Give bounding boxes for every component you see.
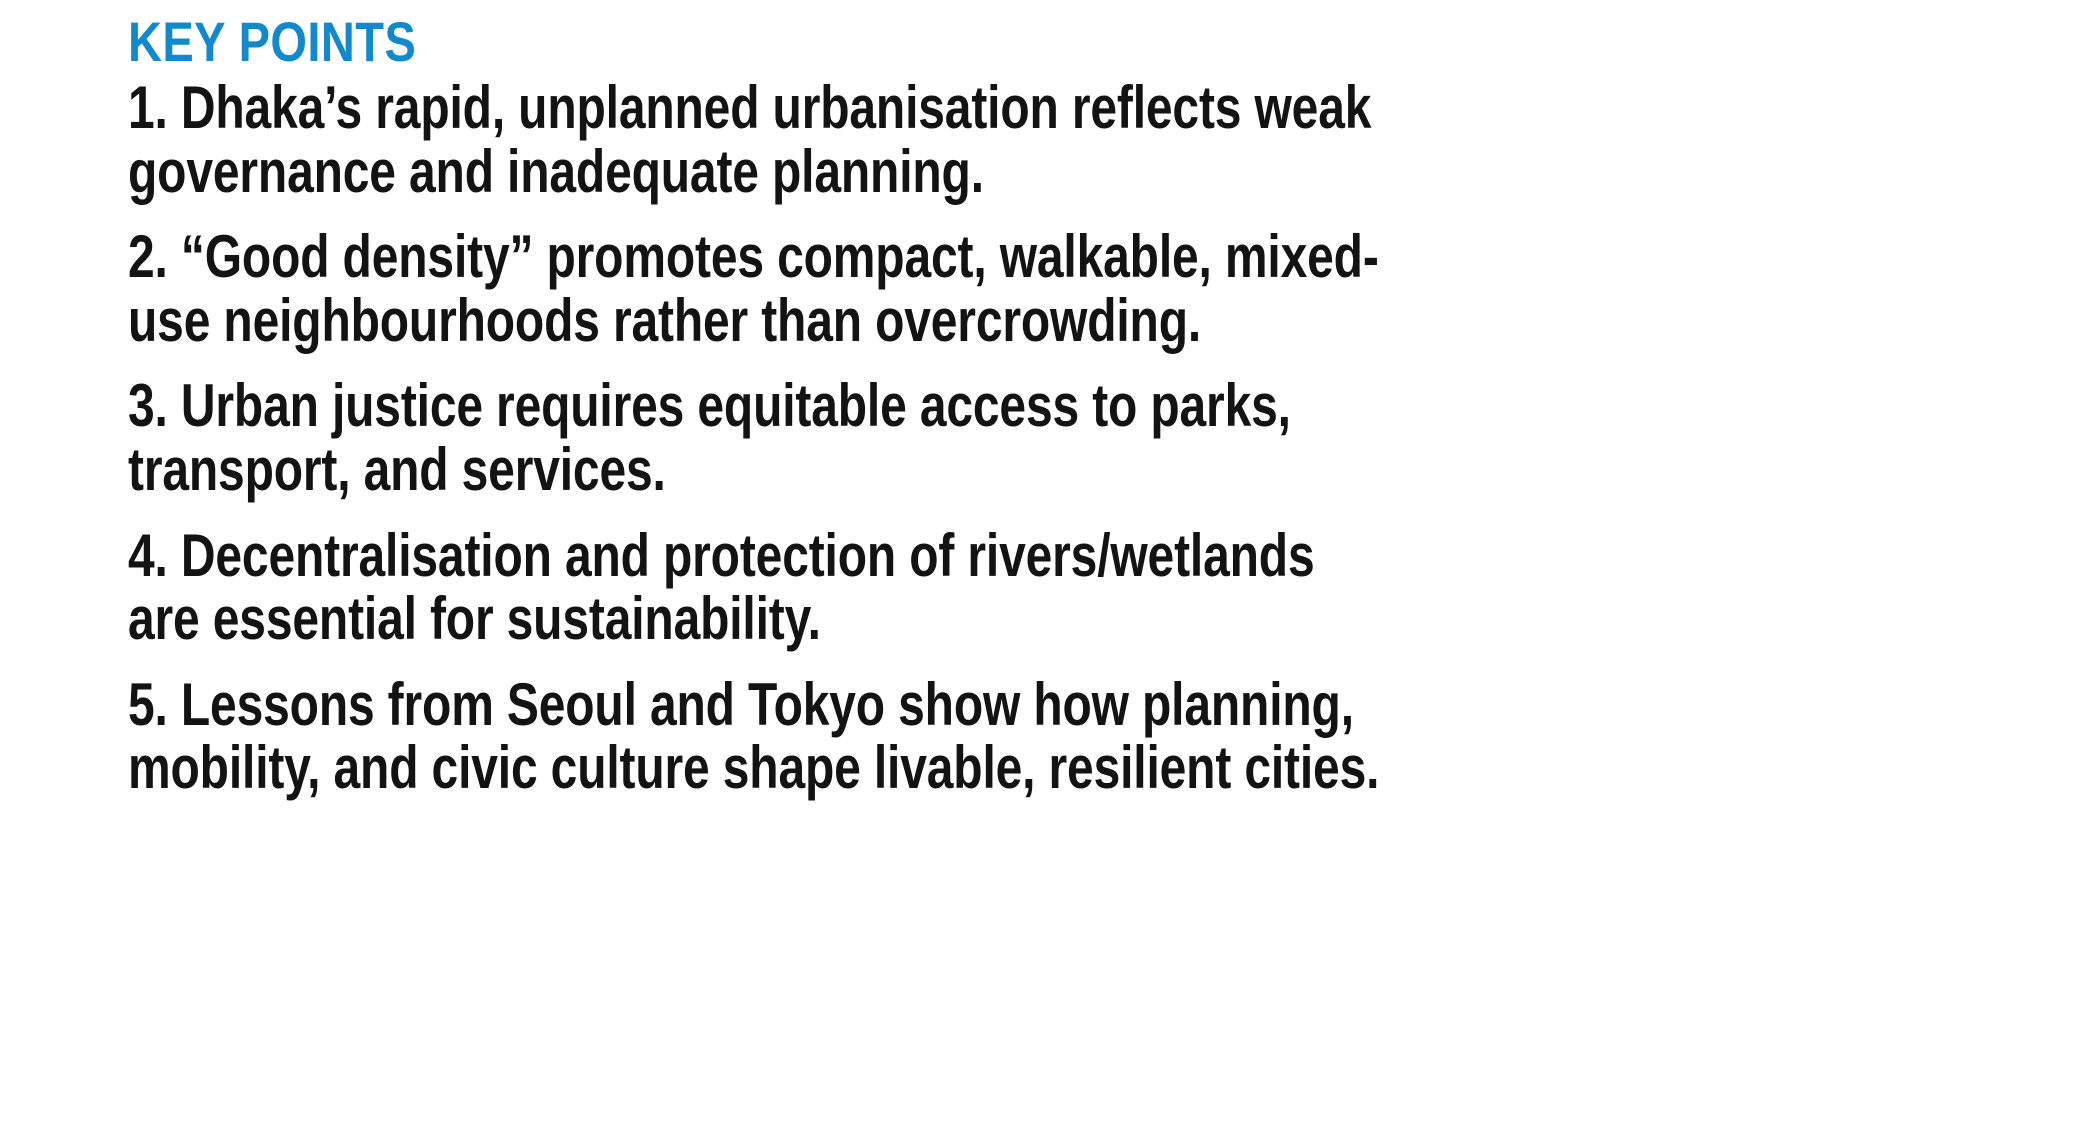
key-point-line-2: are essential for sustainability.	[128, 587, 1706, 651]
list-spacer	[0, 651, 2100, 673]
list-item: 2. “Good density” promotes compact, walk…	[128, 225, 1706, 352]
key-point-line-1: 1. Dhaka’s rapid, unplanned urbanisation…	[128, 76, 1706, 140]
page-title: KEY POINTS	[128, 14, 1784, 70]
list-spacer	[0, 502, 2100, 524]
list-spacer	[0, 352, 2100, 374]
key-point-line-1: 2. “Good density” promotes compact, walk…	[128, 225, 1706, 289]
list-item: 1. Dhaka’s rapid, unplanned urbanisation…	[128, 76, 1706, 203]
key-point-line-2: transport, and services.	[128, 438, 1706, 502]
list-item: 5. Lessons from Seoul and Tokyo show how…	[128, 673, 1706, 800]
key-points-panel: KEY POINTS 1. Dhaka’s rapid, unplanned u…	[0, 0, 2100, 1146]
key-point-line-1: 4. Decentralisation and protection of ri…	[128, 524, 1706, 588]
key-point-line-2: use neighbourhoods rather than overcrowd…	[128, 289, 1706, 353]
key-point-line-1: 3. Urban justice requires equitable acce…	[128, 374, 1706, 438]
list-spacer	[0, 203, 2100, 225]
key-point-line-2: mobility, and civic culture shape livabl…	[128, 736, 1706, 800]
key-point-line-1: 5. Lessons from Seoul and Tokyo show how…	[128, 673, 1706, 737]
list-item: 4. Decentralisation and protection of ri…	[128, 524, 1706, 651]
key-point-line-2: governance and inadequate planning.	[128, 140, 1706, 204]
list-item: 3. Urban justice requires equitable acce…	[128, 374, 1706, 501]
key-points-list: 1. Dhaka’s rapid, unplanned urbanisation…	[0, 76, 2100, 800]
